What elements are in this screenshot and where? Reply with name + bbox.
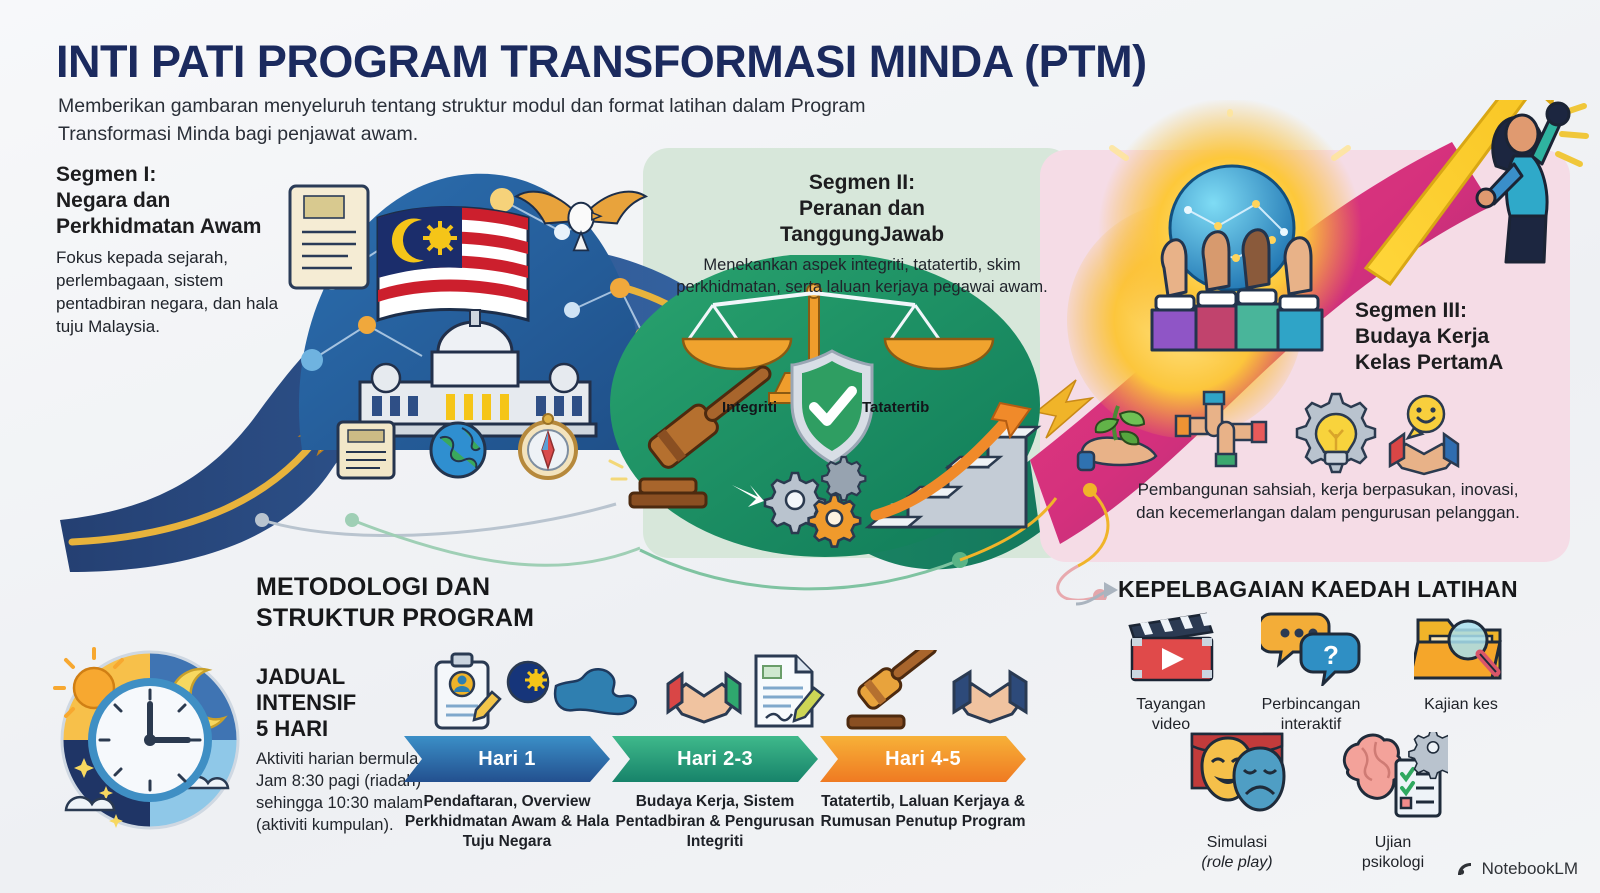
segment-1-icon-row bbox=[322, 412, 592, 492]
segment-2-text: Segmen II: Peranan dan TanggungJawab Men… bbox=[662, 170, 1062, 298]
segment-1-heading-line-1: Segmen I: bbox=[56, 162, 306, 188]
day-chevron-3[interactable]: Hari 4-5 bbox=[820, 736, 1026, 782]
day-chevron-2-label: Hari 2-3 bbox=[677, 748, 753, 771]
teamwork-hands-icon bbox=[1176, 392, 1266, 466]
training-methods-title: KEPELBAGAIAN KAEDAH LATIHAN bbox=[1118, 576, 1518, 603]
training-method-video-label: Tayangan video bbox=[1106, 695, 1236, 735]
clipboard-id-icon bbox=[436, 654, 500, 728]
day-timeline: Hari 1 Pendaftaran, Overview Perkhidmata… bbox=[404, 736, 1044, 856]
segment-3-heading-line-2: Budaya Kerja bbox=[1355, 324, 1585, 350]
segment-2-heading-line-3: TanggungJawab bbox=[662, 222, 1062, 248]
svg-text:?: ? bbox=[1323, 640, 1339, 670]
theatre-masks-icon bbox=[1182, 732, 1292, 824]
training-method-case-study[interactable]: Kajian kes bbox=[1396, 608, 1526, 715]
brain-checklist-icon bbox=[1338, 732, 1448, 824]
segment-3-heading-line-1: Segmen III: bbox=[1355, 298, 1585, 324]
lightbulb-gear-icon bbox=[1297, 394, 1375, 472]
segment-1-heading-line-3: Perkhidmatan Awam bbox=[56, 214, 306, 240]
infographic-canvas: INTI PATI PROGRAM TRANSFORMASI MINDA (PT… bbox=[0, 0, 1600, 893]
training-method-discussion-label: Perbincangan interaktif bbox=[1246, 695, 1376, 735]
training-method-video[interactable]: Tayangan video bbox=[1106, 608, 1236, 735]
globe-icon bbox=[431, 423, 485, 477]
pointer-arrow-icon bbox=[1076, 578, 1120, 608]
segment-2-body: Menekankan aspek integriti, tatatertib, … bbox=[662, 254, 1062, 298]
scale-label-tatatertib: Tatatertib bbox=[862, 399, 929, 416]
segment-3-text: Segmen III: Budaya Kerja Kelas PertamA bbox=[1355, 298, 1585, 376]
schedule-heading-line-2: INTENSIF bbox=[256, 690, 426, 716]
schedule-heading-line-3: 5 HARI bbox=[256, 716, 426, 742]
malaysia-map-icon bbox=[508, 662, 636, 714]
training-method-roleplay-label: Simulasi (role play) bbox=[1172, 833, 1302, 873]
day-chevron-2[interactable]: Hari 2-3 bbox=[612, 736, 818, 782]
video-clapperboard-icon bbox=[1126, 608, 1216, 686]
day-icon-row bbox=[424, 650, 1044, 730]
segment-2-heading-line-2: Peranan dan bbox=[662, 196, 1062, 222]
scroll-icon bbox=[338, 422, 394, 478]
watermark-text: NotebookLM bbox=[1482, 859, 1578, 879]
segment-2-heading-line-1: Segmen II: bbox=[662, 170, 1062, 196]
day-caption-3: Tatatertib, Laluan Kerjaya & Rumusan Pen… bbox=[814, 792, 1032, 832]
segment-3-heading-line-3: Kelas PertamA bbox=[1355, 350, 1585, 376]
segment-1-body: Fokus kepada sejarah, perlembagaan, sist… bbox=[56, 246, 306, 338]
day-caption-1: Pendaftaran, Overview Perkhidmatan Awam … bbox=[398, 792, 616, 852]
case-file-magnifier-icon bbox=[1414, 608, 1508, 686]
day-caption-2: Budaya Kerja, Sistem Pentadbiran & Pengu… bbox=[606, 792, 824, 852]
day-chevron-1[interactable]: Hari 1 bbox=[404, 736, 610, 782]
segment-3-value-icons bbox=[1070, 390, 1490, 480]
segment-1-heading-line-2: Negara dan bbox=[56, 188, 306, 214]
methodology-title-line-1: METODOLOGI DAN bbox=[256, 572, 534, 603]
watermark: NotebookLM bbox=[1455, 859, 1578, 879]
training-method-discussion[interactable]: ? Perbincangan interaktif bbox=[1246, 608, 1376, 735]
training-method-psychometric[interactable]: Ujian psikologi bbox=[1328, 732, 1458, 873]
handshake-smile-icon bbox=[1390, 396, 1458, 474]
day-chevron-3-label: Hari 4-5 bbox=[885, 748, 961, 771]
gavel-icon bbox=[848, 650, 943, 728]
methodology-title: METODOLOGI DAN STRUKTUR PROGRAM bbox=[256, 572, 534, 634]
schedule-heading-line-1: JADUAL bbox=[256, 664, 426, 690]
chat-bubbles-icon: ? bbox=[1261, 608, 1361, 686]
compass-icon bbox=[520, 414, 576, 478]
training-method-roleplay[interactable]: Simulasi (role play) bbox=[1172, 732, 1302, 873]
segment-3-illustration bbox=[1060, 100, 1600, 430]
segment-2-illustration bbox=[600, 255, 1050, 565]
seedling-hand-icon bbox=[1078, 406, 1156, 470]
handshake-icon bbox=[668, 674, 740, 722]
training-method-psychometric-label: Ujian psikologi bbox=[1328, 833, 1458, 873]
scale-label-integriti: Integriti bbox=[722, 399, 777, 416]
malaysia-flag-icon bbox=[378, 206, 528, 320]
signed-document-icon bbox=[756, 656, 823, 726]
notebooklm-icon bbox=[1455, 859, 1475, 879]
methodology-title-line-2: STRUKTUR PROGRAM bbox=[256, 603, 534, 634]
segment-1-text: Segmen I: Negara dan Perkhidmatan Awam F… bbox=[56, 162, 306, 338]
segment-3-body: Pembangunan sahsiah, kerja berpasukan, i… bbox=[1128, 478, 1528, 524]
day-chevron-1-label: Hari 1 bbox=[478, 748, 535, 771]
handshake-formal-icon bbox=[954, 672, 1026, 722]
day-night-clock-icon bbox=[48, 632, 258, 848]
training-method-case-study-label: Kajian kes bbox=[1396, 695, 1526, 715]
